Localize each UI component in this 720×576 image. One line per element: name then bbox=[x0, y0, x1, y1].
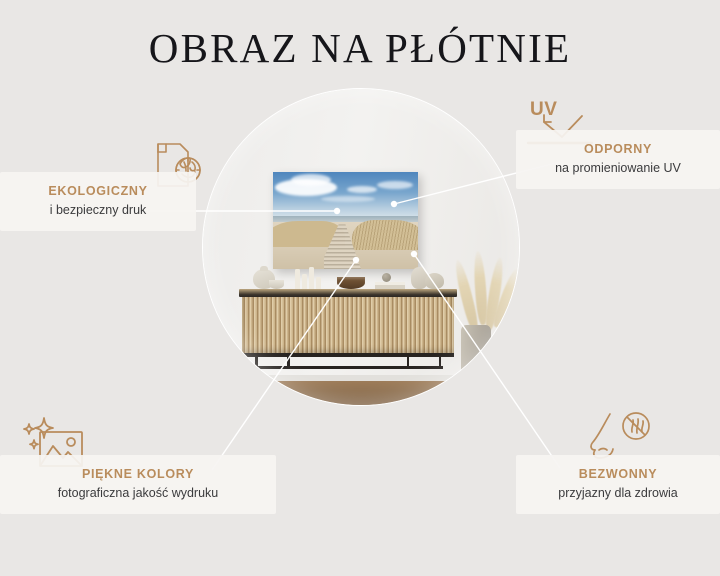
sideboard-fluted-front bbox=[242, 297, 454, 353]
cloud bbox=[321, 196, 375, 202]
cloud bbox=[377, 181, 413, 189]
feature-subtitle-odor: przyjazny dla zdrowia bbox=[532, 485, 704, 502]
page-title: OBRAZ NA PŁÓTNIE bbox=[0, 26, 720, 71]
floor-vase bbox=[461, 325, 491, 383]
feature-label-uv: ODPORNY na promieniowanie UV bbox=[516, 130, 720, 189]
canvas-print-artwork bbox=[273, 172, 418, 269]
infographic-canvas: OBRAZ NA PŁÓTNIE bbox=[0, 0, 720, 576]
feature-subtitle-colors: fotograficzna jakość wydruku bbox=[16, 485, 260, 502]
area-rug bbox=[202, 405, 520, 406]
artwork-sky bbox=[273, 172, 418, 218]
decor-books bbox=[375, 282, 405, 289]
cloud bbox=[291, 174, 331, 186]
feature-subtitle-uv: na promieniowanie UV bbox=[532, 160, 704, 177]
decor-candle bbox=[309, 267, 314, 289]
sideboard-base bbox=[242, 353, 454, 357]
decor-small-bowl bbox=[269, 280, 284, 289]
feature-label-odor: BEZWONNY przyjazny dla zdrowia bbox=[516, 455, 720, 514]
decor-candle bbox=[295, 269, 300, 289]
decor-stone-sphere bbox=[382, 273, 391, 282]
decor-tall-vase bbox=[425, 273, 444, 289]
sideboard-rail bbox=[253, 366, 443, 369]
sideboard bbox=[239, 289, 457, 367]
feature-title-colors: PIĘKNE KOLORY bbox=[16, 467, 260, 483]
decor-candle bbox=[316, 277, 321, 289]
cloud bbox=[347, 186, 377, 193]
wooden-floor bbox=[203, 381, 519, 405]
feature-label-eco: EKOLOGICZNY i bezpieczny druk bbox=[0, 172, 196, 231]
feature-subtitle-eco: i bezpieczny druk bbox=[16, 202, 180, 219]
decor-candle bbox=[302, 274, 307, 289]
product-scene-circle bbox=[202, 88, 520, 406]
room-scene bbox=[203, 89, 519, 405]
artwork-dune-grass-right bbox=[352, 220, 418, 250]
feature-label-colors: PIĘKNE KOLORY fotograficzna jakość wydru… bbox=[0, 455, 276, 514]
sideboard-top bbox=[239, 289, 457, 297]
feature-title-eco: EKOLOGICZNY bbox=[16, 184, 180, 200]
feature-title-uv: ODPORNY bbox=[532, 142, 704, 158]
decor-wooden-bowl bbox=[337, 277, 365, 289]
feature-title-odor: BEZWONNY bbox=[532, 467, 704, 483]
